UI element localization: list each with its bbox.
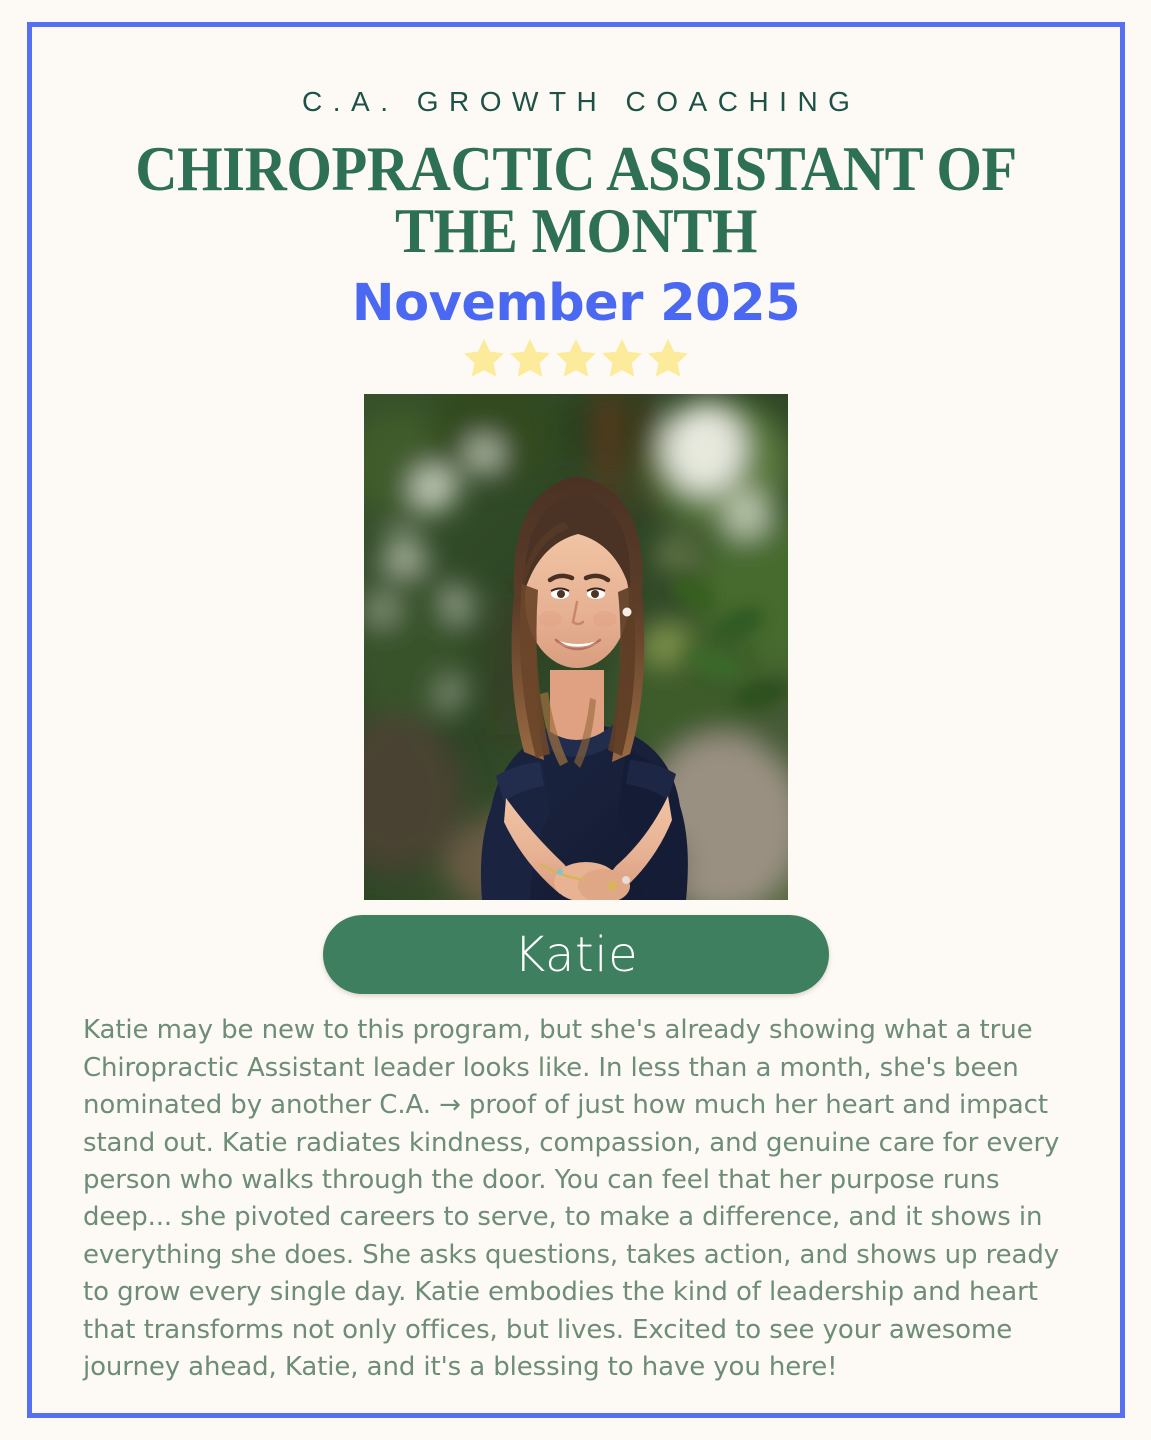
- honoree-photo: [364, 394, 788, 900]
- page-title: CHIROPRACTIC ASSISTANT OF THE MONTH: [114, 138, 1038, 263]
- star-icon: [645, 336, 691, 380]
- star-icon: [553, 336, 599, 380]
- star-rating: [79, 336, 1073, 382]
- poster-content: C.A. GROWTH COACHING CHIROPRACTIC ASSIST…: [27, 22, 1125, 1418]
- honoree-name-banner: Katie: [323, 915, 829, 994]
- brand-eyebrow: C.A. GROWTH COACHING: [79, 88, 1073, 116]
- honoree-description: Katie may be new to this program, but sh…: [79, 1012, 1073, 1386]
- month-subtitle: November 2025: [79, 277, 1073, 331]
- honoree-photo-container: [79, 394, 1073, 900]
- star-icon: [507, 336, 553, 380]
- star-icon: [599, 336, 645, 380]
- award-poster: C.A. GROWTH COACHING CHIROPRACTIC ASSIST…: [0, 0, 1151, 1440]
- portrait-illustration: [364, 394, 788, 900]
- honoree-name-banner-container: Katie: [79, 915, 1073, 994]
- star-icon: [461, 336, 507, 380]
- honoree-name: Katie: [514, 931, 638, 979]
